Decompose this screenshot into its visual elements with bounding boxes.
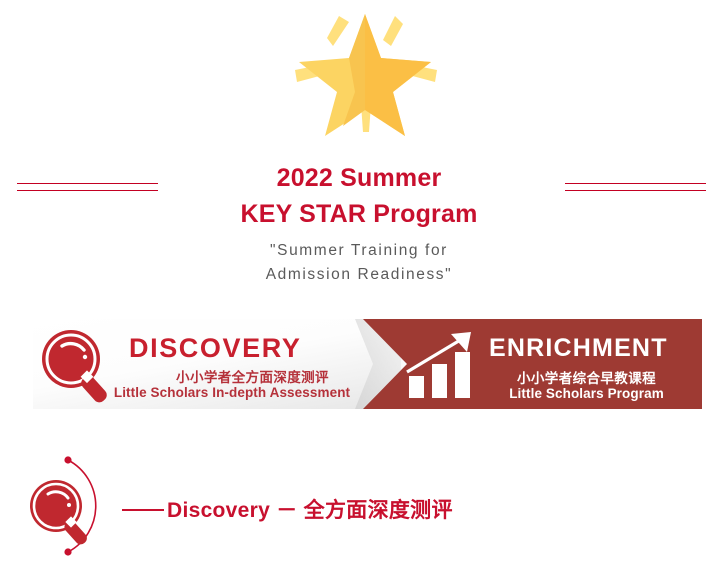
slide-canvas: 2022 Summer KEY STAR Program "Summer Tra… (0, 0, 718, 561)
subtitle-line-2: Admission Readiness" (0, 263, 718, 287)
bar-chart-growth-icon (405, 330, 483, 402)
star-sparkle-icon (283, 6, 447, 138)
discovery-subtitle-en: Little Scholars In-depth Assessment (108, 385, 356, 400)
enrichment-subtitle-en: Little Scholars Program (493, 386, 680, 401)
title-line-2: KEY STAR Program (0, 196, 718, 232)
enrichment-subtitle-cn: 小小学者综合早教课程 (493, 367, 680, 387)
magnifier-icon (26, 478, 100, 548)
section-label: Discovery － 全方面深度测评 (167, 494, 453, 524)
discovery-heading: DISCOVERY (129, 333, 301, 364)
discovery-subtitle-cn: 小小学者全方面深度测评 (150, 366, 355, 386)
title-line-1: 2022 Summer (0, 160, 718, 196)
enrichment-heading: ENRICHMENT (489, 334, 668, 363)
page-title: 2022 Summer KEY STAR Program "Summer Tra… (0, 160, 718, 287)
subtitle-line-1: "Summer Training for (0, 239, 718, 263)
label-connector-line (122, 509, 164, 511)
